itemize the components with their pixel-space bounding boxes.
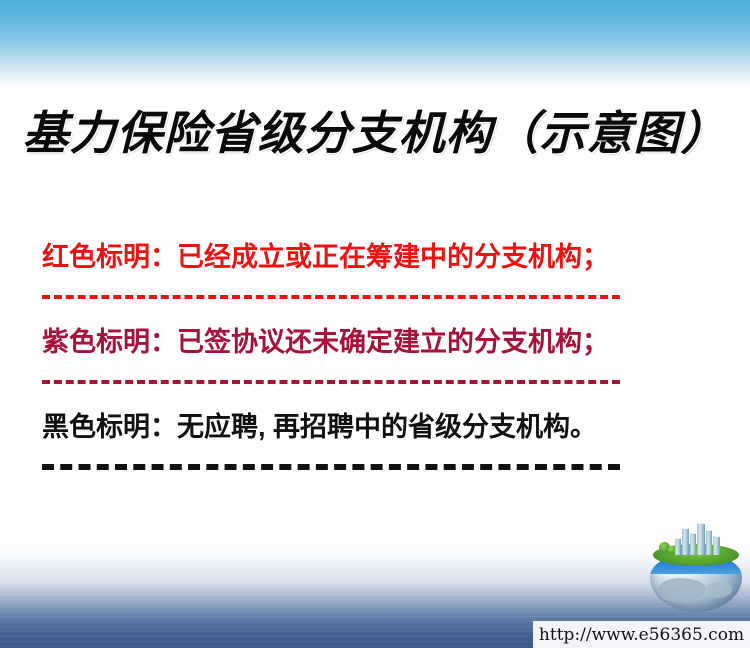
red-dashed-divider <box>42 276 620 318</box>
watermark-url: http://www.e56365.com <box>539 625 744 645</box>
building <box>675 538 681 555</box>
building <box>713 536 720 555</box>
building <box>682 528 689 555</box>
sky-gradient-band <box>0 0 750 86</box>
globe-landmass <box>658 578 706 602</box>
legend-item-red: 红色标明：已经成立或正在筹建中的分支机构； <box>42 233 662 276</box>
city-skyline-icon <box>675 523 723 555</box>
legend-item-purple: 紫色标明：已签协议还未确定建立的分支机构； <box>42 318 662 361</box>
slide-title: 基力保险省级分支机构（示意图） <box>0 97 750 163</box>
building <box>697 523 705 555</box>
presentation-slide: 基力保险省级分支机构（示意图） 红色标明：已经成立或正在筹建中的分支机构； 紫色… <box>0 0 750 648</box>
black-dashed-divider <box>42 446 620 488</box>
building <box>706 530 712 555</box>
building <box>690 533 696 555</box>
legend-item-black: 黑色标明：无应聘, 再招聘中的省级分支机构。 <box>42 403 662 446</box>
globe-landmass-secondary <box>706 582 732 598</box>
legend-block: 红色标明：已经成立或正在筹建中的分支机构； 紫色标明：已签协议还未确定建立的分支… <box>42 233 662 488</box>
purple-dashed-divider <box>42 361 620 403</box>
earth-city-globe-icon <box>645 522 747 614</box>
watermark-bar: http://www.e56365.com <box>533 621 750 648</box>
